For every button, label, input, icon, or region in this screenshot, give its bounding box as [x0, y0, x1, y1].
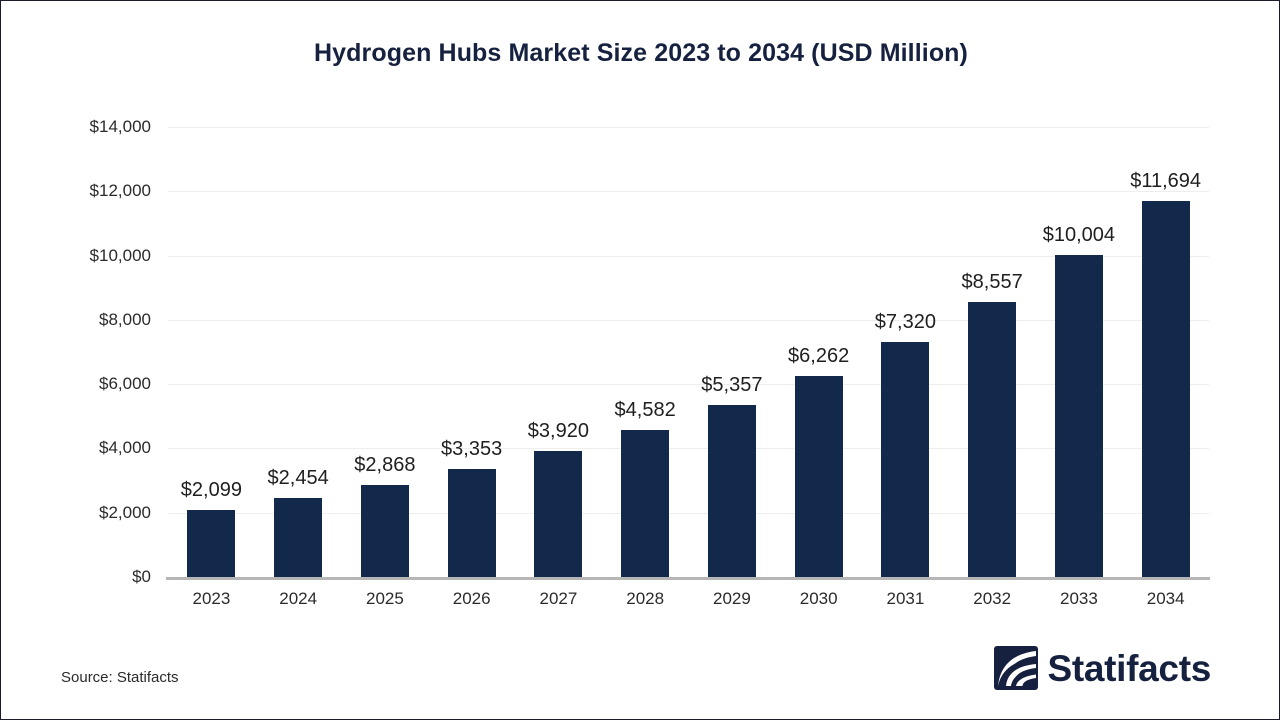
x-axis-tick-label: 2031: [862, 589, 949, 609]
brand-logo: Statifacts: [994, 646, 1211, 690]
y-axis-tick-label: $12,000: [41, 181, 151, 201]
x-axis-tick-label: 2025: [342, 589, 429, 609]
chart-canvas: Hydrogen Hubs Market Size 2023 to 2034 (…: [0, 0, 1280, 720]
x-axis-tick-label: 2033: [1036, 589, 1123, 609]
x-axis-tick-label: 2032: [949, 589, 1036, 609]
y-axis-tick-label: $10,000: [41, 246, 151, 266]
x-axis-tick-label: 2034: [1122, 589, 1209, 609]
y-axis-tick-label: $8,000: [41, 310, 151, 330]
y-axis-tick-label: $0: [41, 567, 151, 587]
y-axis: $0$2,000$4,000$6,000$8,000$10,000$12,000…: [41, 1, 151, 721]
x-axis-tick-label: 2026: [428, 589, 515, 609]
y-axis-tick-label: $2,000: [41, 503, 151, 523]
statifacts-logo-icon: [994, 646, 1038, 690]
y-axis-tick-label: $4,000: [41, 438, 151, 458]
x-axis-tick-label: 2028: [602, 589, 689, 609]
y-axis-tick-label: $6,000: [41, 374, 151, 394]
x-axis-tick-label: 2027: [515, 589, 602, 609]
x-axis-tick-label: 2030: [775, 589, 862, 609]
source-note: Source: Statifacts: [61, 669, 179, 686]
x-axis-tick-label: 2029: [689, 589, 776, 609]
brand-name: Statifacts: [1047, 650, 1211, 687]
x-axis-tick-label: 2024: [255, 589, 342, 609]
x-axis-tick-label: 2023: [168, 589, 255, 609]
y-axis-tick-label: $14,000: [41, 117, 151, 137]
x-axis: 2023202420252026202720282029203020312032…: [168, 1, 1209, 721]
